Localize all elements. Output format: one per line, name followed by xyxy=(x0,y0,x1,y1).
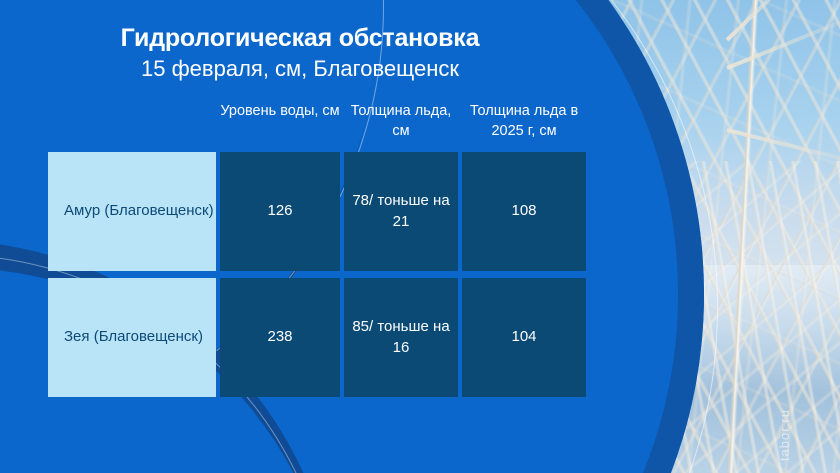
slide-root: tabor.ru Гидрологическая обстановка 15 ф… xyxy=(0,0,840,473)
column-header-water-level: Уровень воды, см xyxy=(220,96,340,152)
title-block: Гидрологическая обстановка 15 февраля, с… xyxy=(0,0,600,83)
cell-amur-ice-thickness: 78/ тоньше на 21 xyxy=(344,152,458,271)
table-header-row: Уровень воды, см Толщина льда, см Толщин… xyxy=(48,96,576,152)
page-subtitle: 15 февраля, см, Благовещенск xyxy=(0,55,600,84)
cell-zeya-ice-2025: 104 xyxy=(462,278,586,397)
cell-amur-water-level: 126 xyxy=(220,152,340,271)
row-label-amur: Амур (Благовещенск) xyxy=(48,152,216,271)
table-row: Амур (Благовещенск) 126 78/ тоньше на 21… xyxy=(48,152,576,271)
cell-zeya-water-level: 238 xyxy=(220,278,340,397)
content-area: Гидрологическая обстановка 15 февраля, с… xyxy=(0,0,600,473)
column-header-ice-2025: Толщина льда в 2025 г, см xyxy=(462,96,586,152)
cell-zeya-ice-thickness: 85/ тоньше на 16 xyxy=(344,278,458,397)
cell-amur-ice-2025: 108 xyxy=(462,152,586,271)
photo-watermark: tabor.ru xyxy=(777,409,792,461)
row-label-zeya: Зея (Благовещенск) xyxy=(48,278,216,397)
column-header-ice-thickness: Толщина льда, см xyxy=(344,96,458,152)
table-row: Зея (Благовещенск) 238 85/ тоньше на 16 … xyxy=(48,278,576,397)
column-header-river xyxy=(48,96,216,152)
page-title: Гидрологическая обстановка xyxy=(0,24,600,53)
hydrology-table: Уровень воды, см Толщина льда, см Толщин… xyxy=(48,96,576,404)
